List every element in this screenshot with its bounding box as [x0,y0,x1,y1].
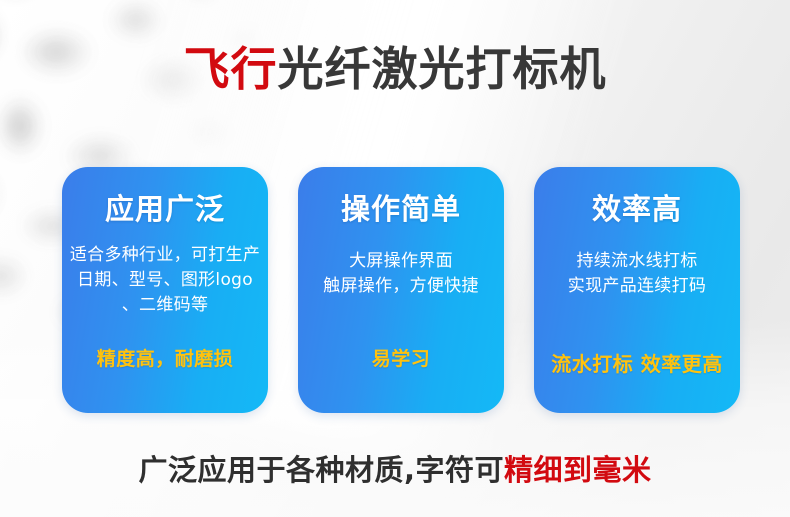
feature-card-body-line: 大屏操作界面 [323,249,479,274]
title-rest: 光纤激光打标机 [278,42,607,96]
feature-card-heading: 效率高 [592,191,682,227]
feature-card-body-line: 日期、型号、图形logo [70,268,260,293]
feature-card-body: 持续流水线打标 实现产品连续打码 [568,249,706,299]
feature-card[interactable]: 效率高 持续流水线打标 实现产品连续打码 流水打标 效率更高 [534,167,740,413]
feature-card-body-line: 持续流水线打标 [568,249,706,274]
feature-card-content: 操作简单 大屏操作界面 触屏操作，方便快捷 [298,167,504,413]
footer-text-highlight: 精细到毫米 [504,453,652,487]
feature-card-content: 应用广泛 适合多种行业，可打生产 日期、型号、图形logo 、二维码等 [62,167,268,413]
feature-card-tag: 流水打标 效率更高 [534,348,740,377]
feature-card-heading: 操作简单 [341,191,461,227]
feature-card[interactable]: 操作简单 大屏操作界面 触屏操作，方便快捷 易学习 [298,167,504,413]
title-highlight: 飞行 [184,42,278,96]
feature-card-tag: 精度高，耐磨损 [62,344,268,371]
feature-card-body-line: 适合多种行业，可打生产 [70,243,260,268]
feature-card-body-line: 实现产品连续打码 [568,274,706,299]
footer-text-normal: 广泛应用于各种材质,字符可 [138,453,504,487]
feature-card-list: 应用广泛 适合多种行业，可打生产 日期、型号、图形logo 、二维码等 精度高，… [62,167,740,413]
banner-footer-text: 广泛应用于各种材质,字符可精细到毫米 [0,450,790,490]
promo-banner: 飞行光纤激光打标机 应用广泛 适合多种行业，可打生产 日期、型号、图形logo … [0,0,790,517]
banner-title: 飞行光纤激光打标机 [0,40,790,98]
feature-card-body-line: 触屏操作，方便快捷 [323,274,479,299]
feature-card-body-line: 、二维码等 [70,293,260,318]
feature-card-body: 适合多种行业，可打生产 日期、型号、图形logo 、二维码等 [70,243,260,318]
feature-card-body: 大屏操作界面 触屏操作，方便快捷 [323,249,479,299]
feature-card[interactable]: 应用广泛 适合多种行业，可打生产 日期、型号、图形logo 、二维码等 精度高，… [62,167,268,413]
feature-card-heading: 应用广泛 [105,191,225,227]
feature-card-tag: 易学习 [298,344,504,371]
